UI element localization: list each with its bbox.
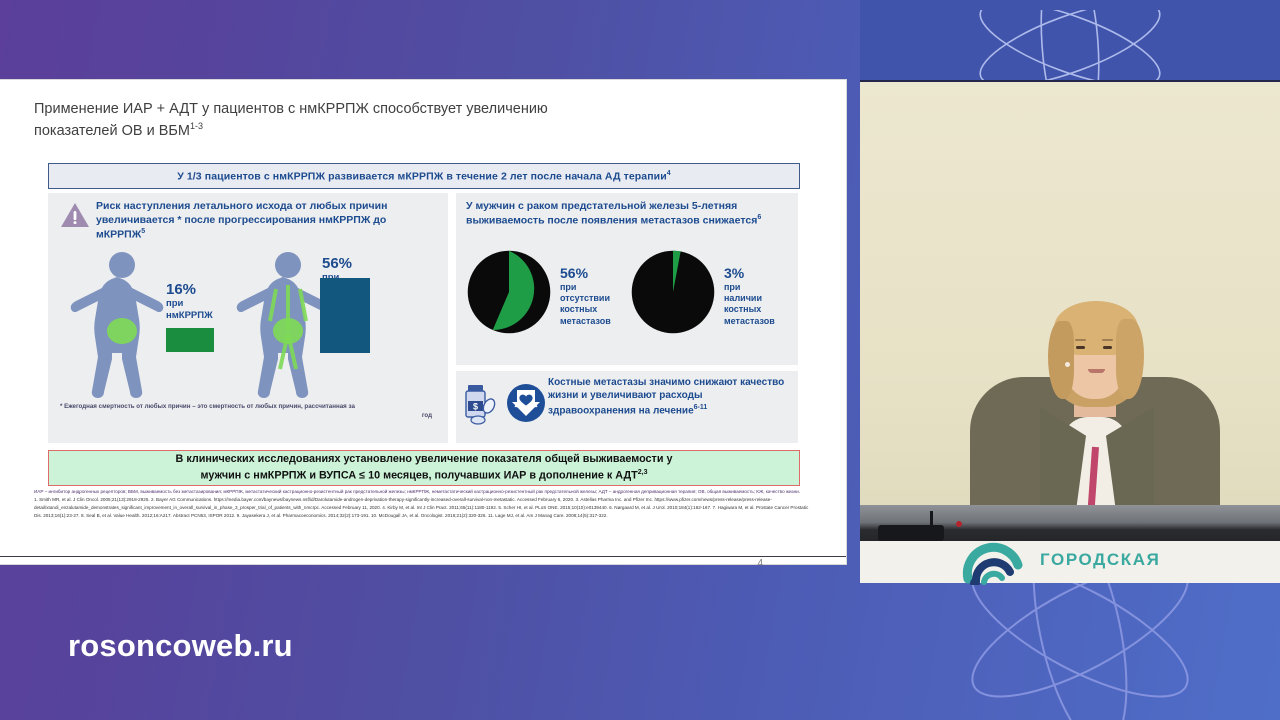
speaker-earring	[1065, 362, 1070, 367]
slide-number: 4	[757, 558, 763, 569]
video-wall-banner	[860, 0, 1280, 82]
slide-title-superscript: 1-3	[190, 122, 203, 132]
conclusion-line1: В клинических исследованиях установлено …	[176, 452, 673, 468]
infographic-banner-text: У 1/3 пациентов с нмКРРПЖ развивается мК…	[177, 170, 671, 183]
logo-arc-icon	[960, 535, 1026, 585]
references-list: 1. Smith MR, et al. J Clin Oncol. 2005;2…	[34, 496, 814, 520]
cost-panel: $	[456, 371, 798, 443]
speaker-eye-right	[1103, 346, 1112, 349]
references-abbreviations: ИАР – ингибитор андрогенных рецепторов; …	[34, 488, 814, 496]
bar-mcrpc	[320, 278, 370, 353]
pill-bottle-dollar-icon: $	[464, 381, 500, 430]
survival-panel: У мужчин с раком предстательной железы 5…	[456, 193, 798, 365]
body-figure-nmcrpc	[62, 249, 182, 406]
pie-caption-with-bone-mets: 3% при наличии костных метастазов	[724, 249, 775, 327]
survival-panel-title: У мужчин с раком предстательной железы 5…	[466, 199, 788, 228]
figure-a-percent: 16%	[166, 281, 213, 298]
speaker-hair-left	[1048, 321, 1074, 399]
presentation-slide[interactable]: Применение ИАР + АДТ у пациентов с нмКРР…	[0, 80, 846, 564]
organization-logo: ГОРОДСКАЯ	[960, 532, 1280, 588]
warning-triangle-icon	[60, 201, 90, 234]
slide-divider	[0, 556, 846, 557]
slide-title: Применение ИАР + АДТ у пациентов с нмКРР…	[34, 98, 674, 143]
figure-a-label: 16% при нмКРРПЖ	[166, 281, 213, 321]
speaker-mouth	[1088, 369, 1105, 373]
pie-unit-no-bone-mets: 56% при отсутствии костных метастазов	[466, 249, 611, 335]
speaker-eye-left	[1076, 346, 1085, 349]
microphone-indicator-light	[956, 521, 962, 527]
pie-chart-with-bone-mets	[630, 249, 716, 335]
conclusion-line2: мужчин с нмКРРПЖ и ВУПСА ≤ 10 месяцев, п…	[201, 468, 648, 484]
slide-title-line2: показателей ОВ и ВБМ	[34, 123, 190, 139]
pie-unit-with-bone-mets: 3% при наличии костных метастазов	[630, 249, 775, 335]
slide-infographic: У 1/3 пациентов с нмКРРПЖ развивается мК…	[48, 163, 798, 443]
bar-nmcrpc	[166, 328, 214, 352]
left-panel-footnote: * Ежегодная смертность от любых причин –…	[60, 403, 438, 421]
figure-a-caption-1: при	[166, 298, 213, 309]
left-panel-title: Риск наступления летального исхода от лю…	[96, 199, 436, 242]
microphone-icon	[878, 525, 944, 541]
infographic-banner: У 1/3 пациентов с нмКРРПЖ развивается мК…	[48, 163, 800, 189]
figure-a-caption-2: нмКРРПЖ	[166, 310, 213, 321]
figure-b-percent: 56%	[322, 255, 363, 272]
slide-references: ИАР – ингибитор андрогенных рецепторов; …	[34, 488, 814, 520]
slide-title-line1: Применение ИАР + АДТ у пациентов с нмКРР…	[34, 101, 548, 117]
cost-panel-icons: $	[464, 381, 546, 430]
right-column: У мужчин с раком предстательной железы 5…	[456, 193, 798, 443]
pie-chart-no-bone-mets	[466, 249, 552, 335]
speaker-brow-right	[1102, 339, 1113, 341]
webinar-screen: rosoncoweb.ru Применение ИАР + АДТ у пац…	[0, 0, 1280, 720]
speaker-video[interactable]	[860, 0, 1280, 567]
left-panel-footnote-line1: * Ежегодная смертность от любых причин –…	[60, 403, 355, 410]
site-url: rosoncoweb.ru	[68, 628, 293, 664]
caring-hands-heart-icon	[506, 383, 546, 428]
left-panel-footnote-line2: год	[60, 412, 438, 421]
logo-text: ГОРОДСКАЯ	[1040, 550, 1160, 570]
cost-panel-text: Костные метастазы значимо снижают качест…	[548, 376, 792, 417]
left-panel: Риск наступления летального исхода от лю…	[48, 193, 448, 443]
conclusion-box: В клинических исследованиях установлено …	[48, 450, 800, 486]
pie-caption-no-bone-mets: 56% при отсутствии костных метастазов	[560, 249, 611, 327]
pie-chart-row: 56% при отсутствии костных метастазов	[462, 249, 798, 357]
svg-text:$: $	[473, 402, 478, 412]
speaker-brow-left	[1075, 339, 1086, 341]
